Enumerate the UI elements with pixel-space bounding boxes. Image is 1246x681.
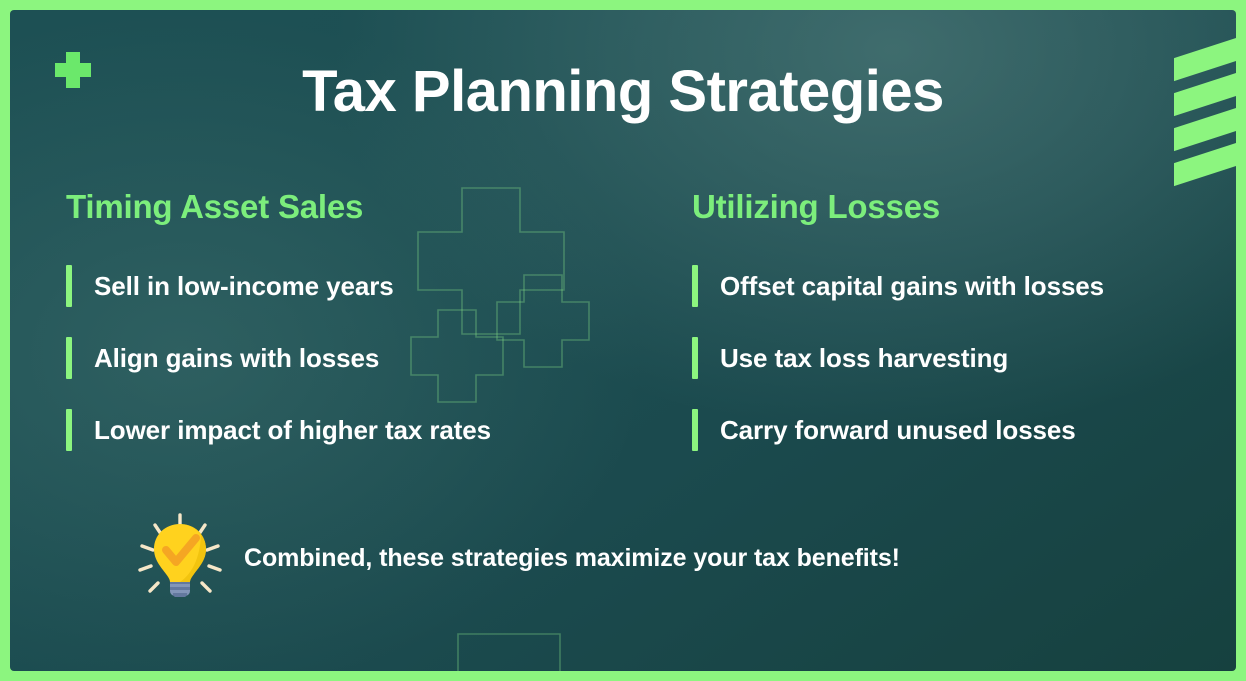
cross-shape [458, 634, 604, 671]
list-item: Offset capital gains with losses [692, 250, 1230, 322]
bullet-accent-bar [66, 409, 72, 451]
list-item: Lower impact of higher tax rates [66, 394, 630, 466]
slide-panel: Tax Planning Strategies Timing Asset Sal… [10, 10, 1236, 671]
bullet-accent-bar [66, 337, 72, 379]
bullet-list: Sell in low-income years Align gains wit… [66, 250, 630, 466]
bullet-label: Offset capital gains with losses [720, 271, 1104, 302]
list-item: Use tax loss harvesting [692, 322, 1230, 394]
callout: Combined, these strategies maximize your… [130, 508, 900, 608]
bullet-label: Lower impact of higher tax rates [94, 415, 491, 446]
column-utilizing-losses: Utilizing Losses Offset capital gains wi… [630, 188, 1230, 466]
columns-container: Timing Asset Sales Sell in low-income ye… [10, 188, 1236, 466]
list-item: Carry forward unused losses [692, 394, 1230, 466]
bullet-label: Carry forward unused losses [720, 415, 1076, 446]
list-item: Sell in low-income years [66, 250, 630, 322]
lightbulb-check-icon [130, 508, 230, 608]
bullet-label: Sell in low-income years [94, 271, 394, 302]
bullet-label: Align gains with losses [94, 343, 379, 374]
column-heading: Utilizing Losses [692, 188, 1230, 226]
column-timing-asset-sales: Timing Asset Sales Sell in low-income ye… [10, 188, 630, 466]
bullet-accent-bar [692, 337, 698, 379]
callout-label: Combined, these strategies maximize your… [244, 544, 900, 573]
slide-root: Tax Planning Strategies Timing Asset Sal… [0, 0, 1246, 681]
bullet-accent-bar [66, 265, 72, 307]
bullet-accent-bar [692, 265, 698, 307]
column-heading: Timing Asset Sales [66, 188, 630, 226]
page-title: Tax Planning Strategies [10, 58, 1236, 125]
slanted-bar [1174, 143, 1236, 186]
bullet-label: Use tax loss harvesting [720, 343, 1008, 374]
bullet-list: Offset capital gains with losses Use tax… [692, 250, 1230, 466]
bullet-accent-bar [692, 409, 698, 451]
list-item: Align gains with losses [66, 322, 630, 394]
